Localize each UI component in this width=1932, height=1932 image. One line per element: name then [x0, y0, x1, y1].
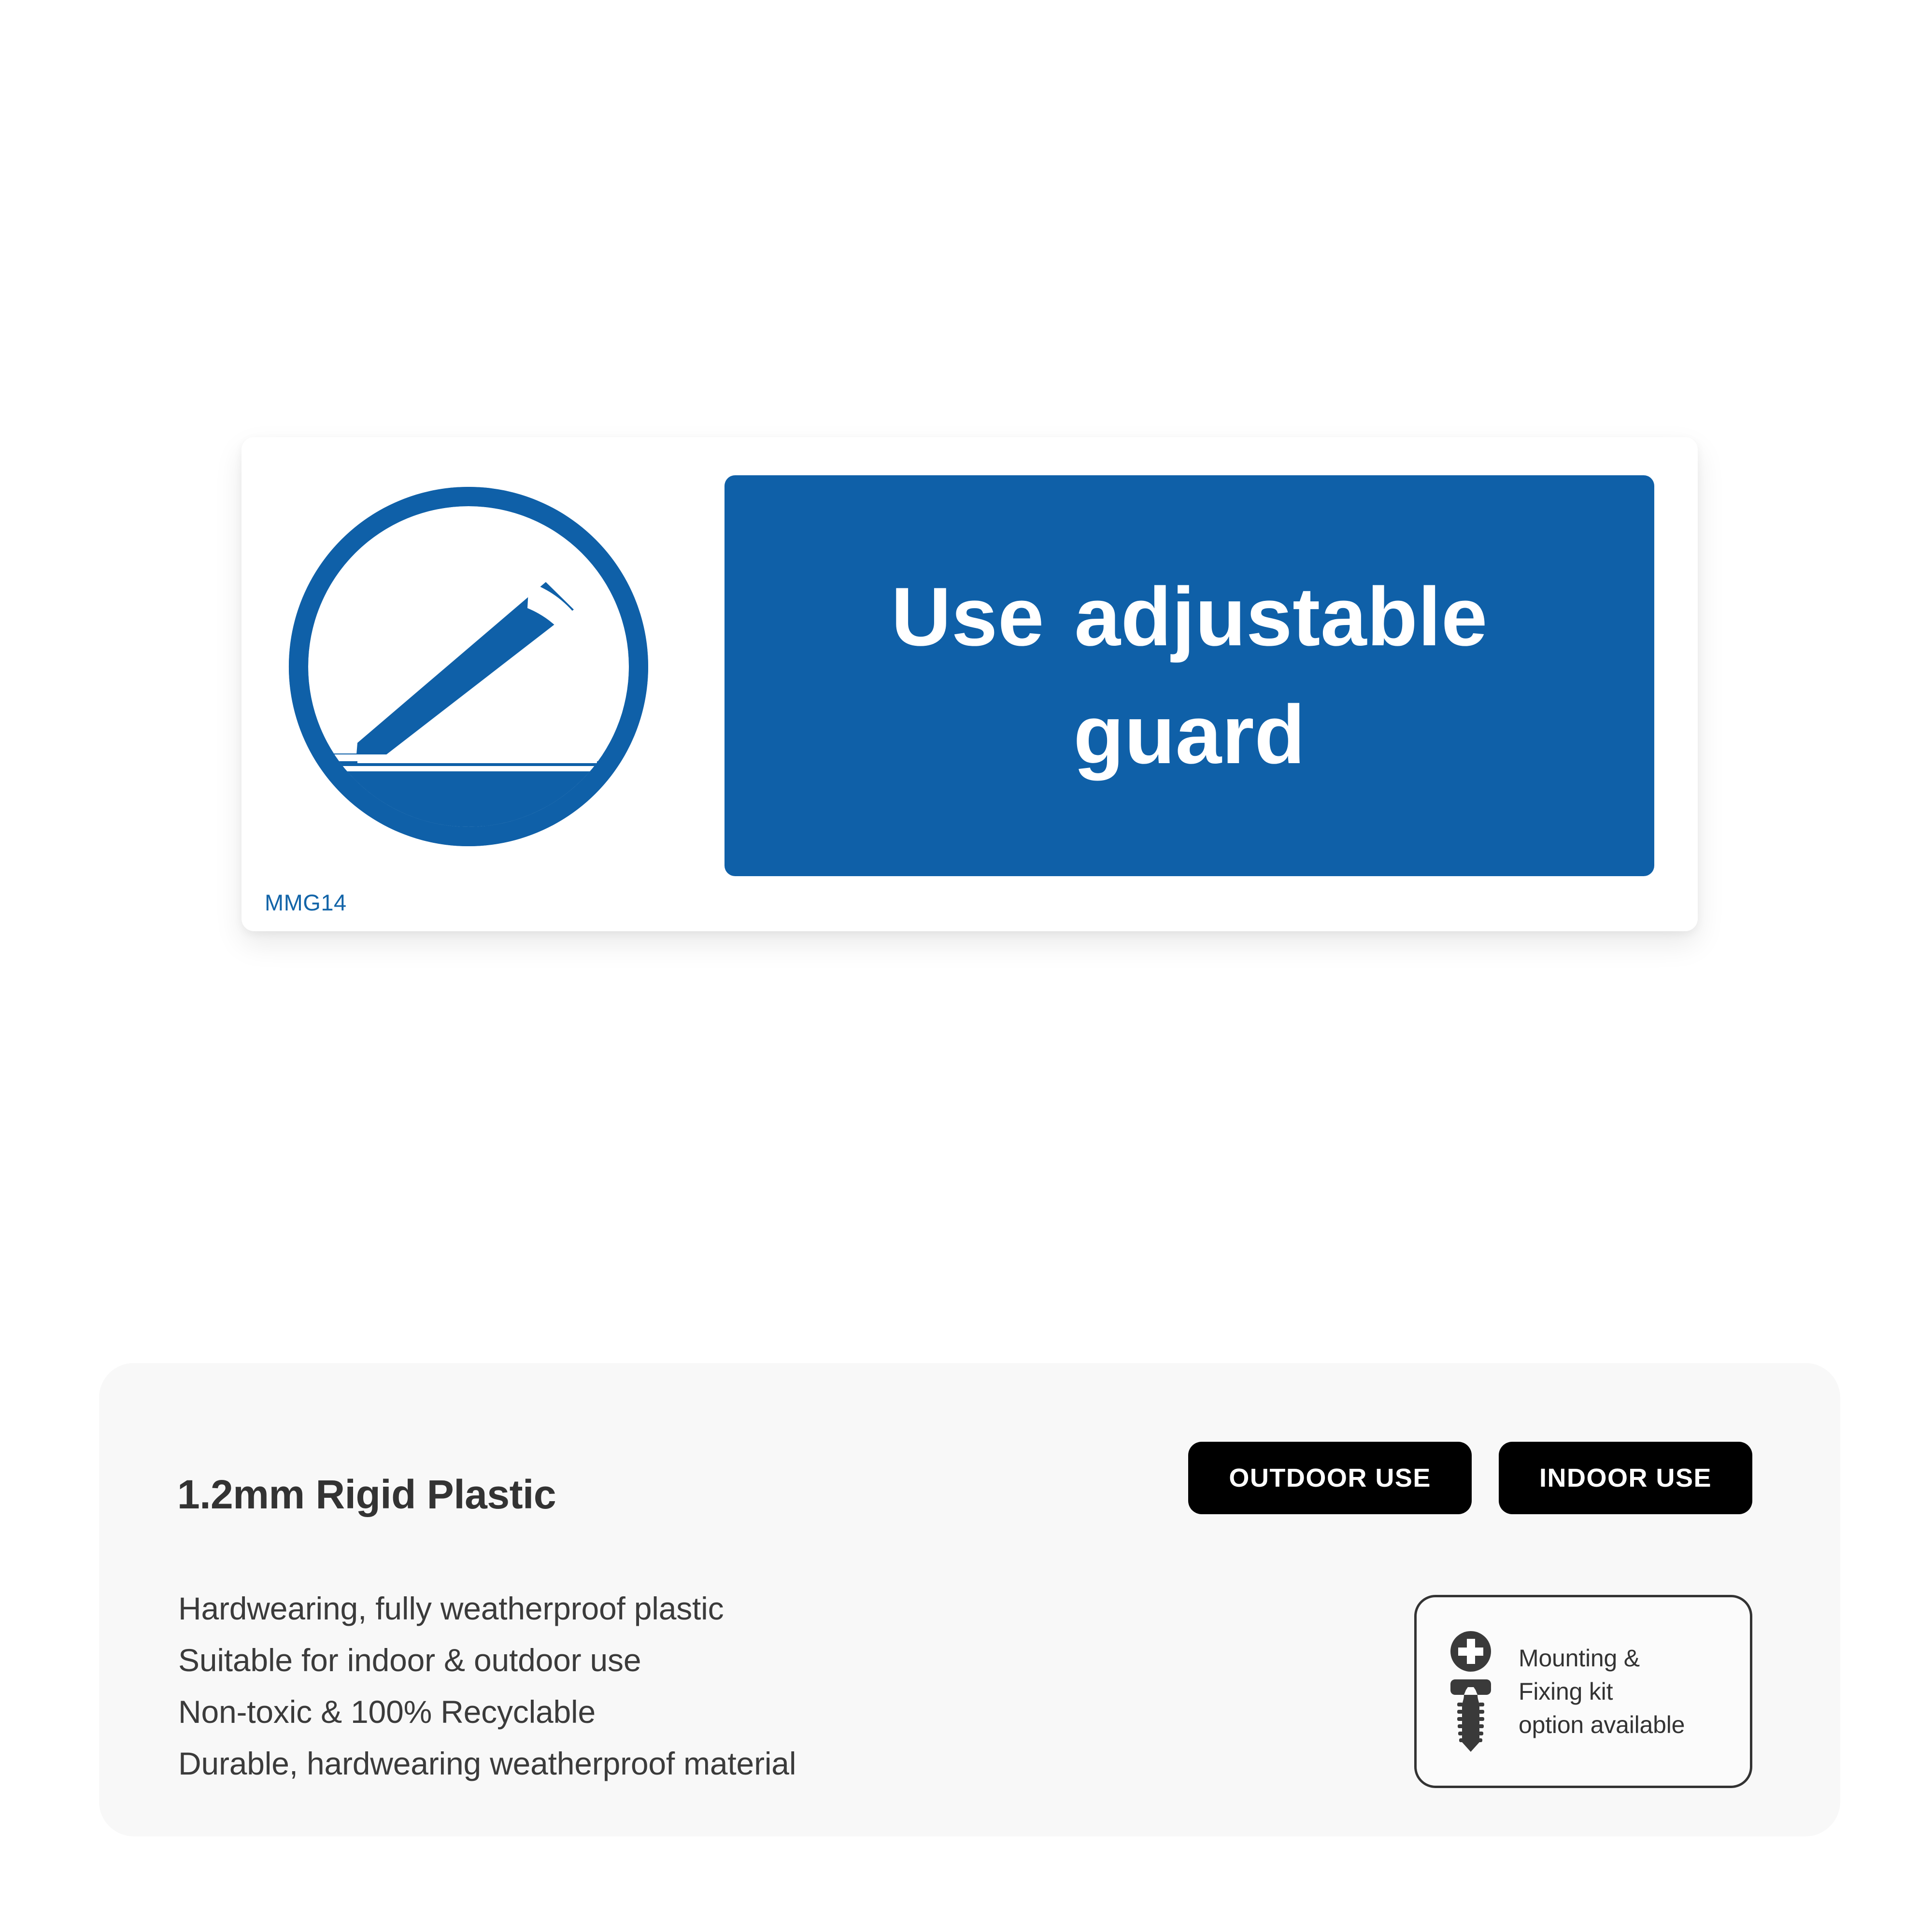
mounting-kit-box[interactable]: Mounting & Fixing kit option available [1414, 1595, 1752, 1788]
mounting-kit-line-1: Mounting & [1519, 1642, 1685, 1675]
mounting-kit-line-3: option available [1519, 1708, 1685, 1742]
product-code: MMG14 [265, 891, 347, 914]
product-page: MMG14 Use adjustable guard 1.2mm Rigid P… [0, 0, 1932, 1932]
feature-item: Durable, hardwearing weatherproof materi… [178, 1738, 1144, 1790]
sign-banner-line-1: Use adjustable [891, 570, 1488, 663]
screw-icon [1446, 1630, 1496, 1753]
use-adjustable-guard-pictogram [285, 483, 652, 850]
badge-outdoor-use[interactable]: OUTDOOR USE [1188, 1442, 1472, 1514]
usage-badges: OUTDOOR USE INDOOR USE [1188, 1442, 1752, 1514]
mounting-kit-line-2: Fixing kit [1519, 1675, 1685, 1708]
feature-item: Hardwearing, fully weatherproof plastic [178, 1583, 1144, 1634]
sign-banner: Use adjustable guard [724, 475, 1654, 876]
material-info-panel: 1.2mm Rigid Plastic Hardwearing, fully w… [99, 1363, 1840, 1836]
sign-banner-text: Use adjustable guard [891, 558, 1488, 794]
feature-list: Hardwearing, fully weatherproof plastic … [178, 1583, 1144, 1790]
material-title: 1.2mm Rigid Plastic [177, 1474, 556, 1515]
mounting-kit-text: Mounting & Fixing kit option available [1519, 1642, 1685, 1742]
feature-item: Non-toxic & 100% Recyclable [178, 1686, 1144, 1738]
feature-item: Suitable for indoor & outdoor use [178, 1634, 1144, 1686]
sign-banner-line-2: guard [1073, 688, 1305, 781]
badge-indoor-use[interactable]: INDOOR USE [1499, 1442, 1752, 1514]
sign-preview-card[interactable]: MMG14 Use adjustable guard [241, 437, 1698, 931]
